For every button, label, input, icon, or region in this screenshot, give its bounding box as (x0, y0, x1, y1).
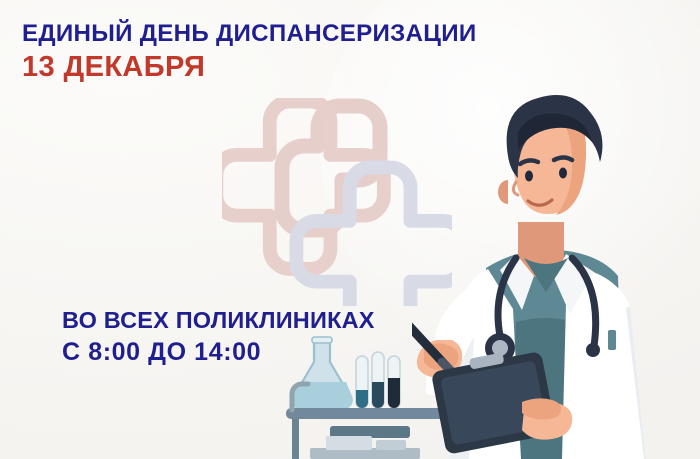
doctor-eye-right (559, 168, 567, 179)
shelf-box-1 (326, 436, 372, 450)
details-block: ВО ВСЕХ ПОЛИКЛИНИКАХ С 8:00 ДО 14:00 (62, 308, 482, 366)
cart-leg-left (292, 419, 299, 459)
coat-pocket-pen (608, 330, 616, 350)
details-hours: С 8:00 ДО 14:00 (62, 339, 482, 366)
doctor-eyebrow-right (554, 158, 572, 161)
headline-main: ЕДИНЫЙ ДЕНЬ ДИСПАНСЕРИЗАЦИИ (22, 21, 574, 46)
doctor-fingers-right (522, 398, 561, 419)
stethoscope-end-right (586, 343, 600, 357)
male-doctor-illustration (412, 72, 700, 459)
details-locations: ВО ВСЕХ ПОЛИКЛИНИКАХ (62, 308, 482, 333)
shelf-box-2 (376, 440, 406, 450)
poster-root: ЕДИНЫЙ ДЕНЬ ДИСПАНСЕРИЗАЦИИ 13 ДЕКАБРЯ (0, 0, 700, 459)
doctor-eye-left (525, 171, 533, 182)
doctor-ear (498, 180, 508, 204)
